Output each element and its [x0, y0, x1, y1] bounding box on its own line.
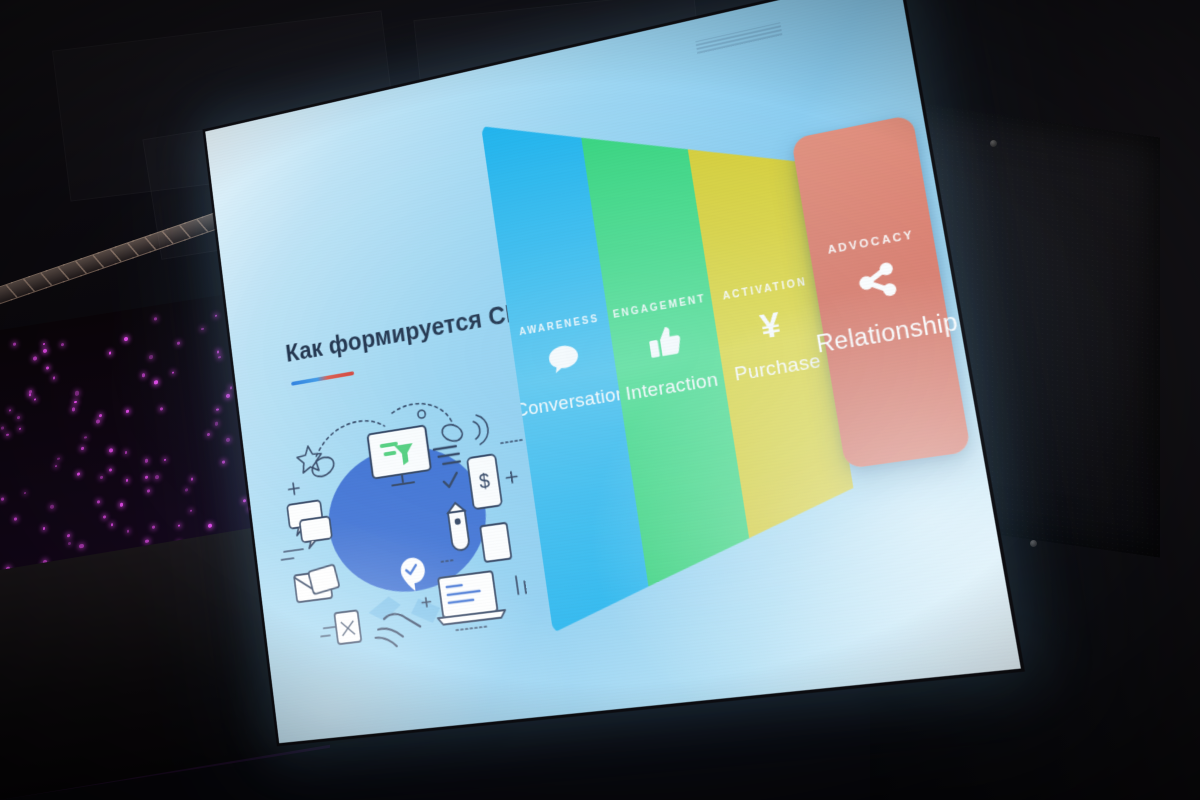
led-star [34, 398, 36, 400]
stage-caption: Conversation [514, 383, 628, 423]
led-star [172, 371, 174, 373]
led-star [142, 373, 146, 377]
led-star [154, 380, 157, 384]
projection-screen: Как формируется CLV? [205, 0, 1021, 743]
led-star [68, 541, 71, 544]
document-icon [480, 523, 511, 562]
led-star [43, 348, 47, 353]
led-star [191, 478, 193, 481]
led-star [120, 503, 124, 507]
led-star [81, 447, 83, 450]
led-star [1, 497, 4, 500]
led-star [109, 468, 112, 472]
led-star [215, 314, 217, 316]
led-star [160, 407, 163, 411]
led-star [147, 490, 150, 493]
led-star [17, 416, 20, 419]
stage-kicker: ACTIVATION [722, 277, 808, 303]
wall-bolt [1030, 540, 1037, 547]
share-network-icon [853, 258, 903, 308]
led-star [96, 419, 100, 424]
led-star [178, 524, 181, 527]
led-star [155, 475, 159, 480]
led-star [55, 465, 57, 467]
led-star [100, 476, 103, 479]
led-star [226, 437, 230, 442]
speech-bubble-icon [545, 341, 583, 381]
led-star [190, 509, 192, 512]
led-star [216, 408, 219, 411]
led-star [50, 504, 54, 509]
led-star [33, 356, 37, 361]
led-star [103, 515, 106, 519]
led-star [226, 393, 230, 398]
clv-funnel: AWARENESS Conversation ENGAGEMENT Intera… [481, 35, 994, 633]
stage-kicker: AWARENESS [518, 313, 600, 338]
led-star [109, 448, 113, 453]
led-star [77, 473, 80, 476]
led-star [230, 386, 232, 389]
led-star [243, 499, 246, 503]
led-star [67, 534, 70, 537]
led-star [218, 356, 220, 359]
led-star [43, 527, 45, 530]
list-icon [308, 564, 340, 595]
led-star [145, 459, 148, 463]
led-star [109, 352, 111, 354]
stage-caption: Relationship [814, 307, 960, 358]
led-star [125, 451, 128, 454]
screen-surface: Как формируется CLV? [205, 0, 1021, 743]
led-star [164, 459, 166, 461]
led-star [126, 410, 128, 412]
led-star [145, 539, 148, 543]
led-star [14, 518, 17, 521]
led-star [177, 341, 180, 344]
led-star [9, 409, 11, 412]
led-star [6, 433, 9, 436]
led-star [46, 366, 49, 370]
led-star [29, 390, 31, 393]
led-star [207, 433, 210, 437]
led-star [74, 401, 77, 404]
led-star [127, 530, 129, 533]
stage-kicker: ADVOCACY [827, 229, 916, 257]
led-star [201, 328, 203, 331]
led-star [217, 351, 220, 354]
led-star [43, 343, 45, 346]
led-star [75, 391, 79, 396]
led-star [57, 458, 59, 460]
led-star [1, 427, 3, 430]
led-star [154, 317, 157, 320]
led-star [84, 436, 87, 439]
speech-bubbles-icon [287, 499, 333, 550]
led-star [99, 414, 102, 418]
led-star [222, 460, 225, 463]
led-star [29, 393, 31, 396]
wall-bolt [990, 140, 997, 147]
yen-currency-icon: ¥ [758, 307, 783, 345]
led-star [72, 407, 76, 411]
stage-caption: Purchase [733, 350, 823, 386]
handshake-icon [367, 590, 445, 649]
led-star [53, 376, 56, 379]
led-star [13, 342, 16, 345]
led-star [152, 526, 155, 529]
led-star [24, 492, 26, 495]
slide-watermark [695, 22, 782, 54]
led-star [124, 337, 128, 342]
led-star [97, 500, 100, 503]
stage-caption: Interaction [624, 369, 720, 406]
stage-kicker: ENGAGEMENT [612, 293, 707, 320]
thumbs-up-icon [645, 322, 685, 365]
smartphone-dollar-icon: $ [467, 454, 502, 509]
led-star [126, 479, 129, 482]
document-sheet-icon [334, 610, 361, 644]
photo-scene: Как формируется CLV? [0, 0, 1200, 800]
led-star [111, 523, 113, 526]
led-star [145, 476, 148, 479]
led-star [215, 422, 219, 426]
led-star [79, 543, 83, 548]
laptop-icon [433, 570, 507, 625]
led-star [185, 488, 188, 491]
led-star [208, 523, 212, 528]
led-star [149, 355, 153, 359]
presentation-slide: Как формируется CLV? [205, 0, 1021, 743]
led-star [19, 427, 21, 430]
led-star [61, 343, 64, 347]
